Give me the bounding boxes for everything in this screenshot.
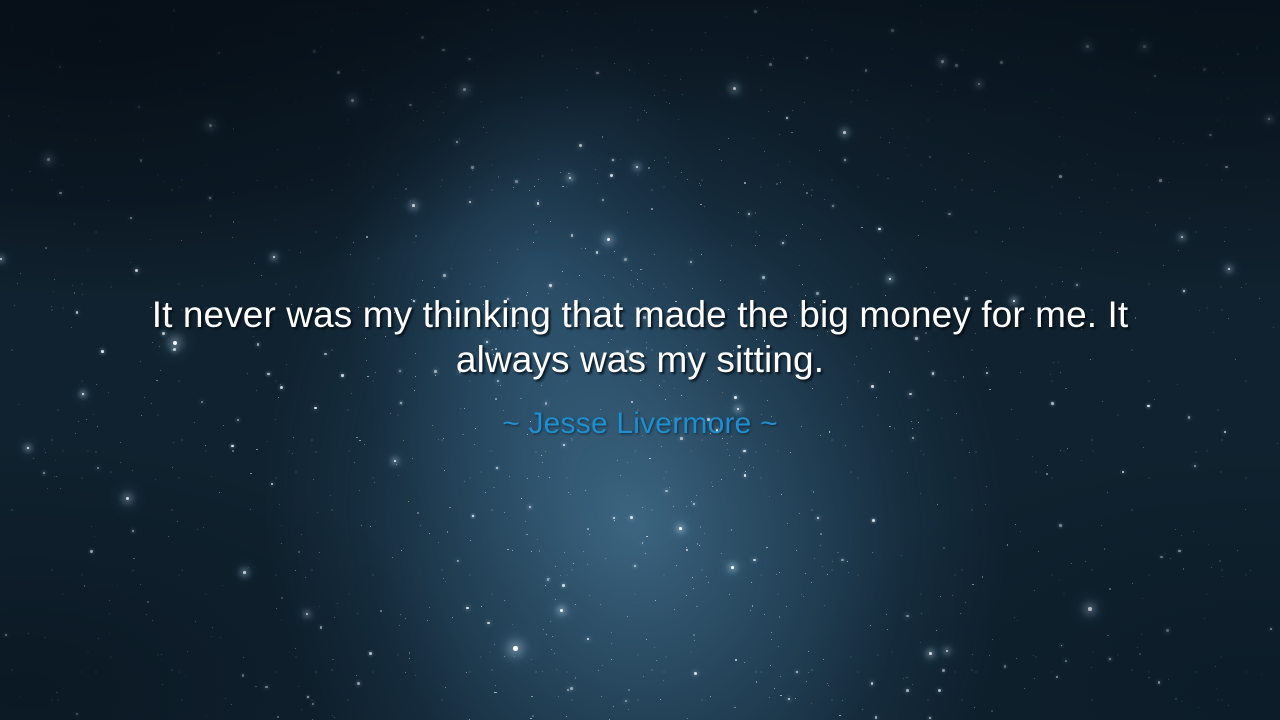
quote-author: ~ Jesse Livermore ~: [60, 406, 1220, 442]
quote-block: It never was my thinking that made the b…: [0, 292, 1280, 442]
quote-text: It never was my thinking that made the b…: [100, 292, 1180, 382]
quote-wallpaper: It never was my thinking that made the b…: [0, 0, 1280, 720]
